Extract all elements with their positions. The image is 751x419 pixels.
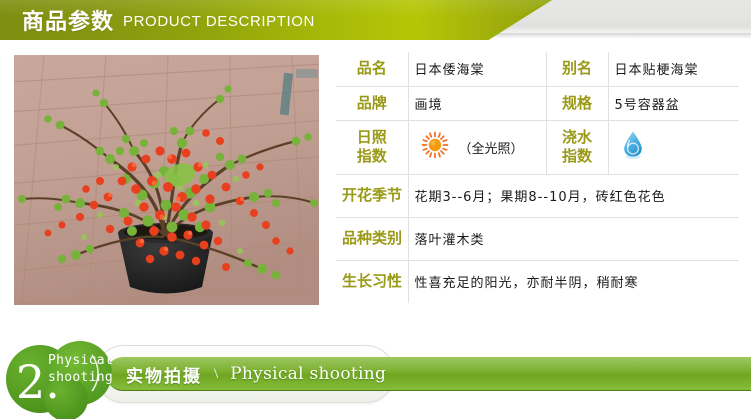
spec-label-sunlight-index: 日照 指数 <box>336 120 408 174</box>
page-title-cn: 商品参数 <box>22 4 114 36</box>
spec-label-sunlight-line1: 日照 <box>342 128 402 147</box>
spec-label-watering-line1: 浇水 <box>553 128 602 147</box>
spec-value-alias: 日本贴梗海棠 <box>608 52 739 86</box>
spec-table: 品名 日本倭海棠 别名 日本贴梗海棠 品牌 画境 规格 5号容器盆 日照 指数 <box>336 52 739 303</box>
header-title-group: 商品参数 PRODUCT DESCRIPTION <box>22 0 315 40</box>
watering-icon-group <box>615 130 734 164</box>
spec-value-sunlight: （全光照） <box>408 120 546 174</box>
section-title-group: 实物拍摄 \ Physical shooting <box>126 357 386 391</box>
section-badge-line2: shooting <box>48 370 113 387</box>
section-title-cn: 实物拍摄 <box>126 362 202 387</box>
section-number-badge: 2. Physical shooting <box>4 333 134 419</box>
spec-value-product-name: 日本倭海棠 <box>408 52 546 86</box>
water-drop-icon <box>621 130 645 164</box>
section-banner: 实物拍摄 \ Physical shooting <box>0 333 751 419</box>
spec-label-brand: 品牌 <box>336 86 408 120</box>
spec-value-brand: 画境 <box>408 86 546 120</box>
sun-icon <box>421 131 449 163</box>
table-row: 品名 日本倭海棠 别名 日本贴梗海棠 <box>336 52 739 86</box>
page-title-en: PRODUCT DESCRIPTION <box>123 13 315 30</box>
spec-value-flowering-season: 花期3--6月；果期8--10月，砖红色花色 <box>408 174 739 217</box>
table-row: 品种类别 落叶灌木类 <box>336 217 739 260</box>
product-description-page: 商品参数 PRODUCT DESCRIPTION <box>0 0 751 419</box>
spec-label-alias: 别名 <box>546 52 608 86</box>
product-photo <box>14 55 319 305</box>
section-badge-line1: Physical <box>48 353 113 370</box>
table-row: 生长习性 性喜充足的阳光，亦耐半阴，稍耐寒 <box>336 260 739 303</box>
spec-label-specification: 规格 <box>546 86 608 120</box>
spec-label-growth-habit: 生长习性 <box>336 260 408 303</box>
sunlight-icon-group: （全光照） <box>415 131 540 163</box>
table-row: 品牌 画境 规格 5号容器盆 <box>336 86 739 120</box>
spec-label-watering-index: 浇水 指数 <box>546 120 608 174</box>
spec-label-sunlight-line2: 指数 <box>342 147 402 166</box>
sunlight-note: （全光照） <box>459 138 524 157</box>
section-badge-text: Physical shooting <box>48 353 113 386</box>
page-header: 商品参数 PRODUCT DESCRIPTION <box>0 0 751 44</box>
section-title-en: Physical shooting <box>230 364 386 384</box>
spec-value-specification: 5号容器盆 <box>608 86 739 120</box>
table-row: 日照 指数 <box>336 120 739 174</box>
spec-value-watering <box>608 120 739 174</box>
spec-label-variety-type: 品种类别 <box>336 217 408 260</box>
spec-label-flowering-season: 开花季节 <box>336 174 408 217</box>
spec-value-growth-habit: 性喜充足的阳光，亦耐半阴，稍耐寒 <box>408 260 739 303</box>
section-title-separator: \ <box>212 366 220 383</box>
spec-label-product-name: 品名 <box>336 52 408 86</box>
table-row: 开花季节 花期3--6月；果期8--10月，砖红色花色 <box>336 174 739 217</box>
spec-value-variety-type: 落叶灌木类 <box>408 217 739 260</box>
spec-label-watering-line2: 指数 <box>553 147 602 166</box>
